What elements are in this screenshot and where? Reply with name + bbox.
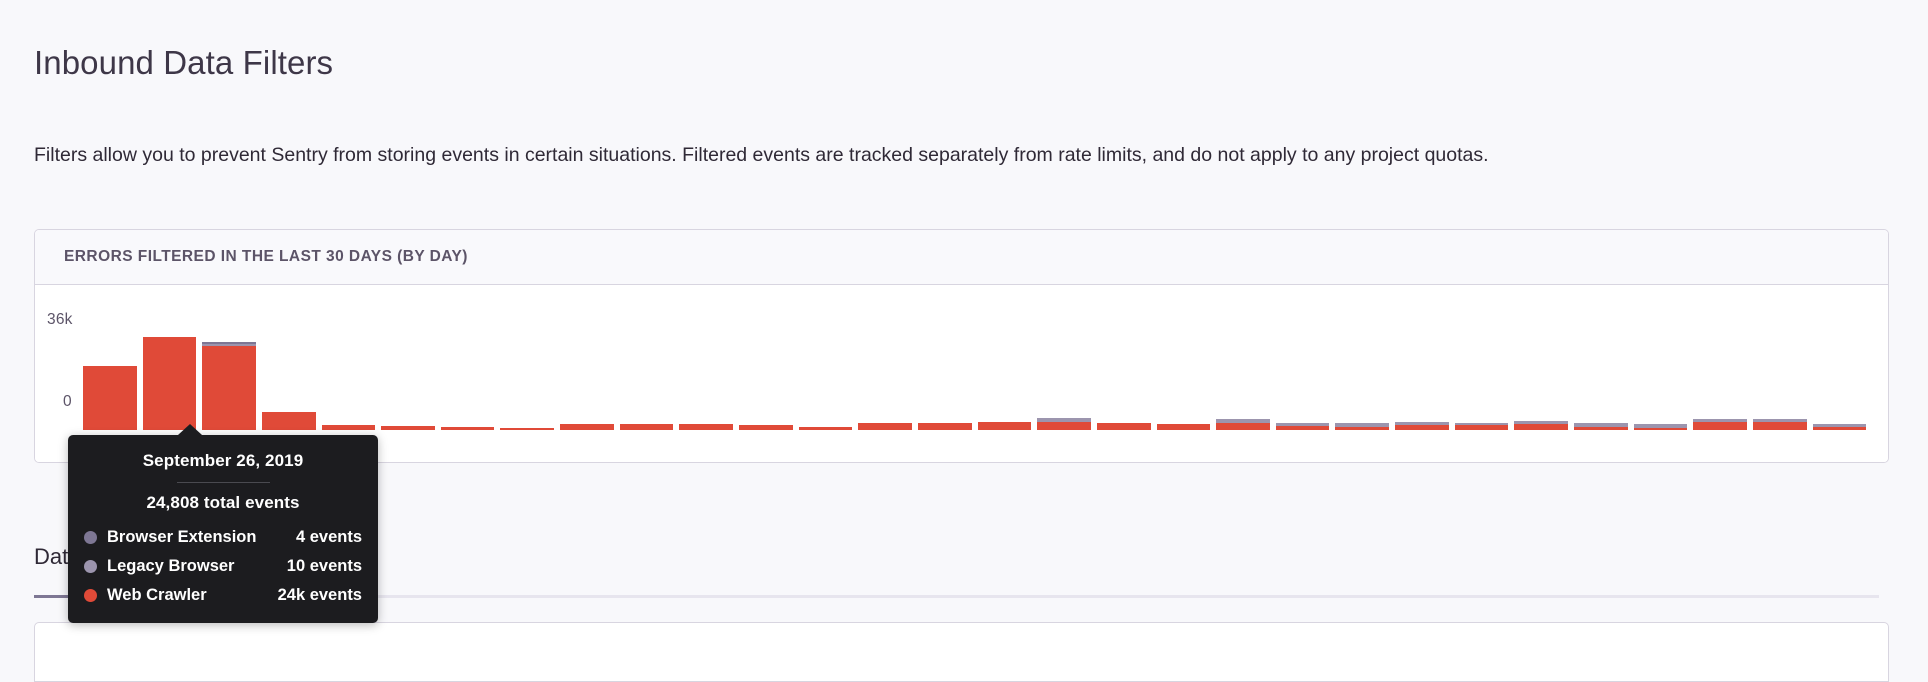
bar-column[interactable]	[858, 308, 912, 430]
bar-segment-crawler	[381, 426, 435, 430]
bar-column[interactable]	[262, 308, 316, 430]
bar-segment-crawler	[1455, 425, 1509, 430]
page-title: Inbound Data Filters	[34, 44, 333, 82]
bar-column[interactable]	[1514, 308, 1568, 430]
bar-segment-crawler	[1693, 422, 1747, 430]
chart-hover-tooltip: September 26, 2019 24,808 total events B…	[68, 435, 378, 623]
tooltip-series-dot-icon	[84, 560, 97, 573]
bar-segment-crawler	[1037, 422, 1091, 430]
bar-segment-crawler	[918, 423, 972, 430]
bar-column[interactable]	[799, 308, 853, 430]
bar-column[interactable]	[1455, 308, 1509, 430]
bar-segment-crawler	[1216, 423, 1270, 430]
bar-segment-crawler	[1395, 425, 1449, 430]
bar-segment-crawler	[500, 428, 554, 430]
y-axis-max-label: 36k	[47, 311, 73, 329]
bar-column[interactable]	[381, 308, 435, 430]
bar-column[interactable]	[739, 308, 793, 430]
bar-segment-crawler	[322, 425, 376, 430]
tooltip-series-label: Legacy Browser	[107, 557, 234, 576]
bar-segment-crawler	[560, 424, 614, 430]
tooltip-total-events: 24,808 total events	[68, 493, 378, 523]
tooltip-divider	[177, 482, 270, 483]
bar-column[interactable]	[1216, 308, 1270, 430]
bar-column[interactable]	[322, 308, 376, 430]
chart-plot-area	[83, 308, 1866, 430]
bar-segment-crawler	[1574, 427, 1628, 430]
bar-segment-crawler	[83, 366, 137, 430]
bar-segment-crawler	[1634, 428, 1688, 430]
tooltip-breakdown-list: Browser Extension4 eventsLegacy Browser1…	[68, 523, 378, 610]
bar-segment-crawler	[620, 424, 674, 430]
bar-column[interactable]	[1037, 308, 1091, 430]
bar-column[interactable]	[978, 308, 1032, 430]
tooltip-series-dot-icon	[84, 531, 97, 544]
bar-segment-crawler	[1753, 422, 1807, 430]
tooltip-date: September 26, 2019	[68, 451, 378, 482]
bar-column[interactable]	[1335, 308, 1389, 430]
bar-column[interactable]	[679, 308, 733, 430]
bar-column[interactable]	[1574, 308, 1628, 430]
chart-panel-title: ERRORS FILTERED IN THE LAST 30 DAYS (BY …	[64, 248, 468, 266]
bar-segment-crawler	[1097, 423, 1151, 430]
tooltip-series-value: 10 events	[287, 557, 362, 576]
bar-column[interactable]	[83, 308, 137, 430]
errors-filtered-chart-panel: ERRORS FILTERED IN THE LAST 30 DAYS (BY …	[34, 229, 1889, 463]
bar-segment-crawler	[1514, 424, 1568, 430]
tooltip-series-dot-icon	[84, 589, 97, 602]
tooltip-series-value: 4 events	[296, 528, 362, 547]
bar-series-container	[83, 308, 1866, 430]
chart-panel-header: ERRORS FILTERED IN THE LAST 30 DAYS (BY …	[35, 230, 1888, 285]
tooltip-series-label: Browser Extension	[107, 528, 256, 547]
tooltip-series-value: 24k events	[278, 586, 362, 605]
page-description: Filters allow you to prevent Sentry from…	[34, 136, 1879, 174]
tooltip-series-label: Web Crawler	[107, 586, 207, 605]
bar-segment-crawler	[143, 337, 197, 430]
bar-segment-crawler	[858, 423, 912, 430]
bar-column[interactable]	[1157, 308, 1211, 430]
bar-segment-crawler	[1813, 427, 1867, 430]
bar-column[interactable]	[1813, 308, 1867, 430]
bar-column[interactable]	[441, 308, 495, 430]
bar-segment-crawler	[1335, 427, 1389, 430]
bar-column[interactable]	[143, 308, 197, 430]
page-root: Inbound Data Filters Filters allow you t…	[0, 0, 1928, 648]
bar-segment-crawler	[739, 425, 793, 430]
bar-segment-crawler	[1276, 426, 1330, 430]
bar-segment-crawler	[202, 346, 256, 430]
data-filters-card	[34, 622, 1889, 682]
bar-column[interactable]	[1693, 308, 1747, 430]
bar-segment-crawler	[262, 412, 316, 430]
bar-segment-crawler	[1157, 424, 1211, 430]
bar-column[interactable]	[1753, 308, 1807, 430]
bar-column[interactable]	[202, 308, 256, 430]
tooltip-row: Web Crawler24k events	[68, 581, 378, 610]
bar-column[interactable]	[1097, 308, 1151, 430]
bar-segment-crawler	[799, 427, 853, 430]
bar-column[interactable]	[560, 308, 614, 430]
bar-column[interactable]	[620, 308, 674, 430]
tooltip-row: Legacy Browser10 events	[68, 552, 378, 581]
bar-column[interactable]	[1276, 308, 1330, 430]
tooltip-arrow-icon	[178, 424, 202, 435]
bar-column[interactable]	[918, 308, 972, 430]
tooltip-row: Browser Extension4 events	[68, 523, 378, 552]
bar-segment-crawler	[978, 422, 1032, 430]
bar-segment-crawler	[441, 427, 495, 430]
bar-column[interactable]	[1395, 308, 1449, 430]
bar-column[interactable]	[1634, 308, 1688, 430]
bar-column[interactable]	[500, 308, 554, 430]
y-axis-min-label: 0	[63, 393, 72, 411]
bar-segment-crawler	[679, 424, 733, 430]
